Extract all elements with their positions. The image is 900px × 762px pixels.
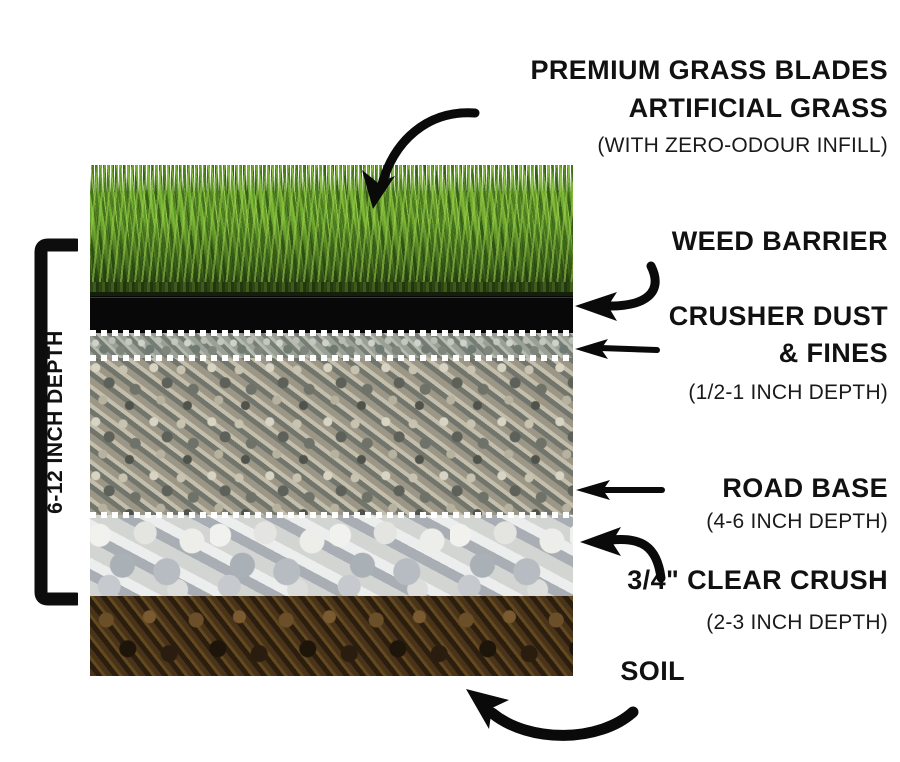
arrow-soil (466, 689, 633, 735)
label-soil: SOIL (620, 656, 685, 686)
depth-bracket-icon (34, 238, 78, 606)
arrow-weed-barrier (575, 266, 655, 321)
label-premium-grass-blades: PREMIUM GRASS BLADES (530, 55, 888, 85)
label-weed-barrier: WEED BARRIER (672, 226, 888, 256)
arrow-road-base (576, 480, 662, 500)
soil-texture (90, 596, 573, 676)
layer-road-base (90, 358, 573, 515)
road-base-texture (90, 358, 573, 515)
label-artificial-grass: ARTIFICIAL GRASS (629, 93, 888, 123)
layer-soil (90, 596, 573, 676)
label-crusher-dust: CRUSHER DUST (669, 301, 888, 331)
label-artificial-grass-sub: (WITH ZERO-ODOUR INFILL) (597, 134, 888, 158)
grass-tips-edge (90, 165, 573, 191)
weed-barrier-hairline (90, 297, 573, 298)
layer-clear-crush (90, 515, 573, 596)
label-crusher-fines: & FINES (779, 338, 888, 368)
diagram-canvas: 6-12 INCH DEPTH PREMIUM GRASS BLADES ART… (0, 0, 900, 762)
label-road-base: ROAD BASE (722, 473, 888, 503)
label-clear-crush: 3/4" CLEAR CRUSH (627, 565, 888, 595)
dotted-separator-crusher-top (90, 330, 573, 336)
label-road-base-depth: (4-6 INCH DEPTH) (706, 510, 888, 534)
label-clear-crush-depth: (2-3 INCH DEPTH) (706, 611, 888, 635)
label-crusher-depth: (1/2-1 INCH DEPTH) (688, 381, 888, 405)
clear-crush-texture (90, 515, 573, 596)
cross-section-illustration (90, 165, 573, 676)
arrow-crusher-dust (575, 339, 657, 359)
layer-weed-barrier (90, 296, 573, 333)
dotted-separator-crusher-bottom (90, 355, 573, 361)
layer-artificial-grass (90, 165, 573, 296)
dotted-separator-clear-crush (90, 512, 573, 518)
